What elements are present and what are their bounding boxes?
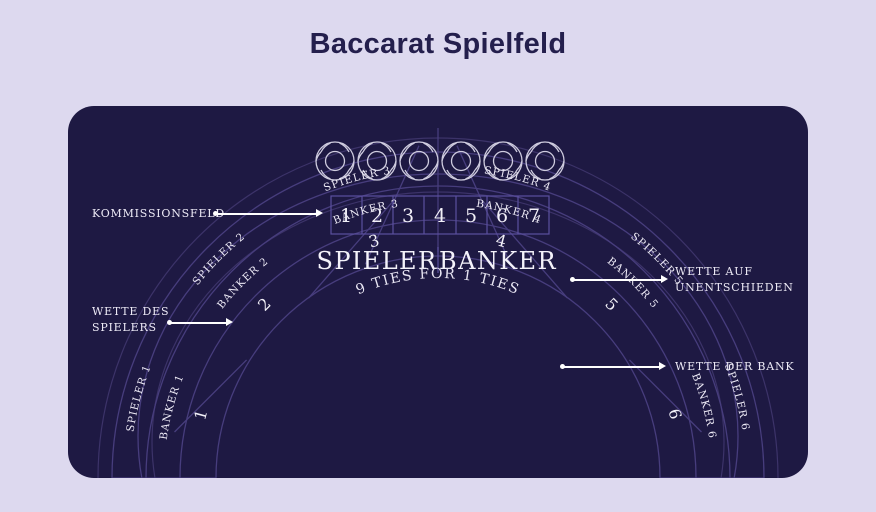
callout-commission-arrow-icon [316,209,323,217]
callout-banker-bet-line [563,366,659,368]
callout-player-bet-label: WETTE DES SPIELERS [92,304,169,336]
commission-cell-5[interactable]: 5 [465,205,477,227]
callout-player-bet-line [170,322,226,324]
callout-banker-bet-label: WETTE DER BANK [675,359,794,375]
callout-player-bet-arrow-icon [226,318,233,326]
callout-commission-label: KOMMISSIONSFELD [92,206,225,222]
banker-label[interactable]: BANKER [439,247,557,275]
commission-cell-3[interactable]: 3 [402,205,414,227]
page-title: Baccarat Spielfeld [0,28,876,61]
commission-cell-4[interactable]: 4 [434,205,446,227]
callout-tie-bet-arrow-icon [661,275,668,283]
callout-tie-bet-line [573,279,661,281]
callout-banker-bet-arrow-icon [659,362,666,370]
callout-commission-line [216,213,316,215]
callout-tie-bet-label: WETTE AUF UNENTSCHIEDEN [675,264,794,296]
